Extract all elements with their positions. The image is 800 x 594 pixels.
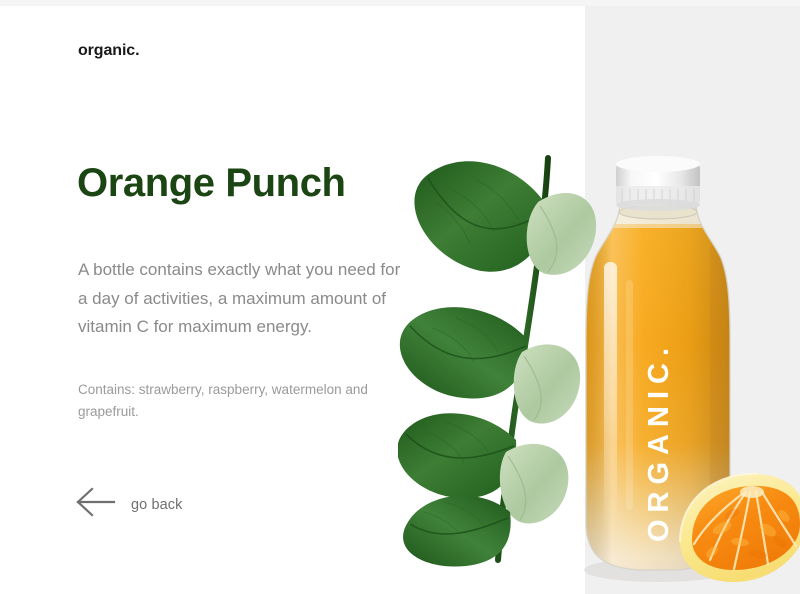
brand-logo[interactable]: organic. — [78, 42, 139, 60]
arrow-left-icon — [74, 486, 116, 523]
go-back-label: go back — [131, 497, 183, 513]
product-ingredients: Contains: strawberry, raspberry, waterme… — [78, 379, 378, 423]
product-detail-page: organic. Orange Punch A bottle contains … — [0, 0, 800, 594]
product-description: A bottle contains exactly what you need … — [78, 256, 408, 342]
go-back-link[interactable]: go back — [74, 486, 183, 523]
page-title: Orange Punch — [77, 160, 346, 206]
product-image-panel — [585, 6, 800, 594]
